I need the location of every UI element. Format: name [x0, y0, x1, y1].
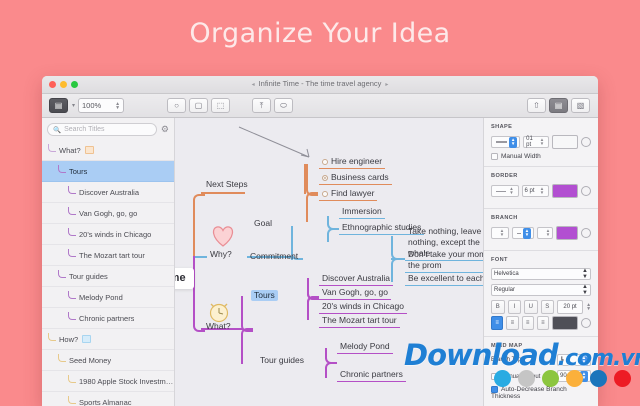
heart-icon: [209, 222, 237, 248]
outline-row[interactable]: How?: [42, 329, 174, 350]
outline-row-badge-icon: [85, 146, 94, 154]
node-20s-winds-chicago[interactable]: 20's winds in Chicago: [319, 301, 407, 314]
branch-type-select[interactable]: ┗ ▲▼: [557, 354, 591, 366]
gear-icon[interactable]: ⚙: [161, 125, 169, 134]
outline-twig-icon: [58, 270, 66, 278]
branch-type-row: Branch Type ┗ ▲▼: [491, 354, 591, 366]
outline-twig-icon: [58, 165, 66, 173]
outline-twig-icon: [68, 249, 76, 257]
title-prev-chevron-icon: ◂: [252, 82, 255, 88]
align-center-button[interactable]: ≡: [506, 316, 518, 330]
toolbar-insert-group: ○ ▢ ⬚: [167, 98, 230, 113]
title-next-chevron-icon: ▸: [385, 82, 388, 88]
outline-row-label: Seed Money: [69, 356, 111, 365]
border-style-swatch: [496, 191, 506, 192]
node-immersion[interactable]: Immersion: [339, 206, 385, 219]
mindmap-canvas: Infinite Time Next Steps Hire engineer B…: [175, 118, 483, 406]
border-color-swatch[interactable]: [552, 184, 578, 198]
edge-tours-4: [307, 296, 319, 320]
border-opacity-ring-icon[interactable]: [581, 186, 591, 196]
edge-nextsteps-down: [306, 192, 318, 222]
branch-color-swatch[interactable]: [556, 226, 578, 240]
branch-node-next-steps[interactable]: Next Steps: [203, 179, 251, 190]
shape-controls: ▲▼ 01 pt ▲▼: [491, 135, 591, 149]
manual-width-row[interactable]: Manual Width: [491, 153, 591, 160]
note-icon[interactable]: ▢: [189, 98, 208, 113]
outline-row[interactable]: Tour guides: [42, 266, 174, 287]
branch-label-tour-guides: Tour guides: [260, 355, 304, 365]
node-van-gogh[interactable]: Van Gogh, go, go: [319, 287, 391, 300]
branch-width-select[interactable]: ▲▼: [537, 227, 553, 239]
window-title-wrap: ◂Infinite Time - The time travel agency▸: [42, 79, 598, 88]
outline-row[interactable]: Sports Almanac: [42, 392, 174, 406]
italic-button[interactable]: I: [508, 300, 522, 314]
branch-controls: ▲▼ ▲▼ ▲▼: [491, 226, 591, 240]
inspector-section-font: FONT Helvetica ▲▼ Regular ▲▼ B I U S: [484, 251, 598, 337]
branch-node-tour-guides[interactable]: Tour guides: [257, 355, 307, 366]
page-title: Organize Your Idea: [0, 18, 640, 49]
chevron-updown-icon[interactable]: ▲▼: [582, 284, 588, 296]
layout-icon[interactable]: ▤: [49, 98, 68, 113]
window-body: 🔍 Search Titles ⚙ What?ToursDiscover Aus…: [42, 118, 598, 406]
outline-twig-icon: [58, 354, 66, 362]
font-size-field[interactable]: 20 pt: [557, 300, 583, 314]
strikethrough-button[interactable]: S: [541, 300, 555, 314]
center-node[interactable]: Infinite Time: [175, 268, 194, 289]
outline-row-label: Tours: [69, 167, 87, 176]
node-find-lawyer[interactable]: Find lawyer: [319, 188, 377, 201]
outline-row-label: How?: [59, 335, 78, 344]
branch-section-title: BRANCH: [491, 215, 591, 221]
screenshot-root: Organize Your Idea ◂Infinite Time - The …: [0, 0, 640, 400]
manual-width-label: Manual Width: [501, 153, 541, 160]
font-style-buttons-row: B I U S 20 pt ▲▼: [491, 300, 591, 314]
edge-center-to-nextsteps: [193, 194, 205, 258]
radio-off-icon[interactable]: [322, 191, 328, 197]
inspector-section-shape: SHAPE ▲▼ 01 pt ▲▼ Ma: [484, 118, 598, 167]
font-family-value: Helvetica: [494, 271, 519, 277]
outline-row-label: 20's winds in Chicago: [79, 230, 151, 239]
branch-type-label: Branch Type: [491, 357, 525, 363]
node-label: Hire engineer: [331, 156, 382, 166]
line-style-swatch: [496, 141, 507, 142]
outline-row-label: The Mozart tart tour: [79, 251, 145, 260]
branch-label-tours: Tours: [254, 290, 275, 300]
chevron-updown-icon[interactable]: ▲▼: [498, 228, 506, 239]
node-chronic-partners[interactable]: Chronic partners: [337, 369, 406, 382]
zoom-stepper-arrows[interactable]: ▲▼: [115, 102, 120, 110]
mindmap-section-title: MIND MAP: [491, 343, 591, 349]
branch-shape-swatch: [517, 233, 521, 234]
node-dont-take-mom[interactable]: Don't take your mom to the prom: [405, 249, 483, 273]
search-input[interactable]: 🔍 Search Titles: [47, 123, 157, 136]
inspector-section-border: BORDER ▲▼ 6 pt ▲▼: [484, 167, 598, 209]
branch-shape-select[interactable]: ▲▼: [512, 227, 534, 239]
align-left-button[interactable]: ≡: [491, 316, 503, 330]
chevron-updown-icon[interactable]: ▲▼: [523, 228, 531, 239]
watermark-dot: [614, 370, 631, 387]
align-justify-button[interactable]: ≡: [537, 316, 549, 330]
auto-decrease-checkbox[interactable]: [491, 386, 498, 393]
border-controls: ▲▼ 6 pt ▲▼: [491, 184, 591, 198]
node-discover-australia[interactable]: Discover Australia: [319, 273, 393, 286]
radio-off-icon[interactable]: [322, 159, 328, 165]
outline-row[interactable]: The Mozart tart tour: [42, 245, 174, 266]
underline-button[interactable]: U: [524, 300, 538, 314]
window-title: Infinite Time - The time travel agency: [259, 79, 382, 88]
font-style-value: Regular: [494, 287, 515, 293]
font-section-title: FONT: [491, 257, 591, 263]
outline-row-label: What?: [59, 146, 81, 155]
edge-what-tours: [241, 296, 253, 332]
outline-row[interactable]: Melody Pond: [42, 287, 174, 308]
border-style-select[interactable]: ▲▼: [491, 185, 519, 197]
outline-row-label: Melody Pond: [79, 293, 123, 302]
outline-twig-icon: [68, 291, 76, 299]
outline-row[interactable]: Discover Australia: [42, 182, 174, 203]
branch-node-what[interactable]: What?: [203, 321, 234, 332]
watermark-dot: [542, 370, 559, 387]
outline-row-label: Sports Almanac: [79, 398, 132, 406]
font-color-swatch[interactable]: [552, 316, 578, 330]
outline-row-label: Discover Australia: [79, 188, 139, 197]
watermark-dot: [518, 370, 535, 387]
node-label: Business cards: [331, 172, 389, 182]
edge-commit-3: [391, 258, 405, 282]
inspector-section-branch: BRANCH ▲▼ ▲▼ ▲▼: [484, 209, 598, 251]
font-family-select[interactable]: Helvetica ▲▼: [491, 268, 591, 280]
outline-row-label: 1980 Apple Stock Investment: [79, 377, 174, 386]
branch-label-why: Why?: [210, 249, 232, 259]
stepper-icon[interactable]: ▲▼: [538, 186, 546, 197]
watermark-dot: [590, 370, 607, 387]
shape-size-field[interactable]: 01 pt ▲▼: [523, 136, 549, 148]
watermark-dot: [566, 370, 583, 387]
node-be-excellent[interactable]: Be excellent to each other: [405, 273, 483, 286]
watermark-dot: [494, 370, 511, 387]
pointer-arrow-icon: [237, 124, 327, 164]
shape-icon[interactable]: ○: [167, 98, 186, 113]
branch-node-why[interactable]: Why?: [207, 249, 235, 260]
image-icon[interactable]: ⬚: [211, 98, 230, 113]
outline-twig-icon: [68, 207, 76, 215]
outline-twig-icon: [68, 375, 76, 383]
shape-size-value: 01 pt: [526, 136, 538, 148]
node-mozart-tart-tour[interactable]: The Mozart tart tour: [319, 315, 400, 328]
outline-sidebar: 🔍 Search Titles ⚙ What?ToursDiscover Aus…: [42, 118, 175, 406]
branch-label-what: What?: [206, 321, 231, 331]
window-titlebar: ◂Infinite Time - The time travel agency▸: [42, 76, 598, 94]
branch-label-next-steps: Next Steps: [206, 179, 248, 189]
outline-twig-icon: [68, 396, 76, 404]
font-opacity-ring-icon[interactable]: [581, 318, 591, 328]
zoom-value: 100%: [82, 101, 101, 110]
border-size-field[interactable]: 6 pt ▲▼: [522, 185, 550, 197]
auto-decrease-label: Auto-Decrease Branch Thickness: [491, 386, 567, 400]
inspector-panel: SHAPE ▲▼ 01 pt ▲▼ Ma: [483, 118, 598, 406]
outline-row[interactable]: Van Gogh, go, go: [42, 203, 174, 224]
search-icon: 🔍: [53, 126, 61, 134]
branch-opacity-ring-icon[interactable]: [581, 228, 591, 238]
toolbar-right-group: ⇧ ▤ ▧: [527, 98, 590, 113]
border-size-value: 6 pt: [525, 188, 535, 194]
edge-guides-2: [325, 362, 337, 378]
node-hire-engineer[interactable]: Hire engineer: [319, 156, 385, 169]
media-icon[interactable]: ▧: [571, 98, 590, 113]
toolbar-tools-group: ⤒ ⬭: [252, 98, 293, 113]
search-row: 🔍 Search Titles ⚙: [42, 118, 174, 140]
chevron-updown-icon[interactable]: ▲▼: [580, 355, 588, 366]
bold-button[interactable]: B: [491, 300, 505, 314]
chevron-updown-icon[interactable]: ▲▼: [544, 228, 552, 239]
border-section-title: BORDER: [491, 173, 591, 179]
stepper-icon[interactable]: ▲▼: [538, 137, 546, 148]
outline-row[interactable]: 1980 Apple Stock Investment: [42, 371, 174, 392]
branch-label-goal: Goal: [254, 218, 272, 228]
outline-twig-icon: [68, 186, 76, 194]
toolbar: ▤ ▾ 100% ▲▼ ○ ▢ ⬚ ⤒ ⬭ ⇧ ▤ ▧: [42, 94, 598, 118]
toolbar-left-group: ▤ ▾ 100% ▲▼: [49, 98, 124, 113]
zoom-stepper[interactable]: 100% ▲▼: [78, 98, 124, 113]
outline-row-label: Van Gogh, go, go: [79, 209, 137, 218]
node-label: Find lawyer: [331, 188, 374, 198]
outline-twig-icon: [68, 312, 76, 320]
app-window: ◂Infinite Time - The time travel agency▸…: [42, 76, 598, 406]
edge-what-guides: [241, 328, 253, 364]
outline-row[interactable]: Chronic partners: [42, 308, 174, 329]
outline-row[interactable]: Seed Money: [42, 350, 174, 371]
outline-row[interactable]: 20's winds in Chicago: [42, 224, 174, 245]
branch-node-commitment[interactable]: Commitment: [247, 251, 301, 262]
export-icon[interactable]: ⤒: [252, 98, 271, 113]
node-business-cards[interactable]: Business cards: [319, 172, 392, 185]
shape-section-title: SHAPE: [491, 124, 591, 130]
watermark-dots: [494, 370, 631, 387]
node-melody-pond[interactable]: Melody Pond: [337, 341, 393, 354]
chevron-down-icon[interactable]: ▾: [72, 102, 75, 109]
outline-list: What?ToursDiscover AustraliaVan Gogh, go…: [42, 140, 174, 406]
branch-style-select[interactable]: ▲▼: [491, 227, 509, 239]
comment-icon[interactable]: ⬭: [274, 98, 293, 113]
chevron-updown-icon[interactable]: ▲▼: [509, 137, 517, 148]
outline-row-label: Chronic partners: [79, 314, 134, 323]
radio-on-icon[interactable]: [322, 175, 328, 181]
shape-opacity-ring-icon[interactable]: [581, 137, 591, 147]
outline-row-label: Tour guides: [69, 272, 108, 281]
align-right-button[interactable]: ≡: [522, 316, 534, 330]
outline-row[interactable]: Tours: [42, 161, 174, 182]
manual-width-checkbox[interactable]: [491, 153, 498, 160]
outline-twig-icon: [48, 333, 56, 341]
shape-fill-swatch[interactable]: [552, 135, 578, 149]
outline-row-badge-icon: [82, 335, 91, 343]
shape-line-style-select[interactable]: ▲▼: [491, 136, 520, 148]
outline-twig-icon: [68, 228, 76, 236]
share-icon[interactable]: ⇧: [527, 98, 546, 113]
edge-goal-2: [327, 228, 339, 242]
branch-node-tours-selected[interactable]: Tours: [251, 290, 278, 301]
chevron-updown-icon[interactable]: ▲▼: [508, 186, 516, 197]
inspector-icon[interactable]: ▤: [549, 98, 568, 113]
outline-twig-icon: [48, 144, 56, 152]
chevron-updown-icon[interactable]: ▲▼: [582, 268, 588, 280]
font-align-row: ≡ ≡ ≡ ≡: [491, 316, 591, 330]
outline-row[interactable]: What?: [42, 140, 174, 161]
edge-nextsteps-stem: [201, 192, 245, 194]
font-style-select[interactable]: Regular ▲▼: [491, 284, 591, 296]
edge-commit-1: [391, 236, 405, 260]
branch-label-commitment: Commitment: [250, 251, 298, 261]
branch-type-value: ┗: [560, 357, 564, 364]
search-placeholder: Search Titles: [64, 126, 104, 133]
font-size-stepper-icon[interactable]: ▲▼: [586, 303, 591, 311]
branch-node-goal[interactable]: Goal: [251, 218, 275, 229]
auto-decrease-row[interactable]: Auto-Decrease Branch Thickness: [491, 386, 591, 400]
edge-nextsteps-spine: [304, 164, 306, 194]
